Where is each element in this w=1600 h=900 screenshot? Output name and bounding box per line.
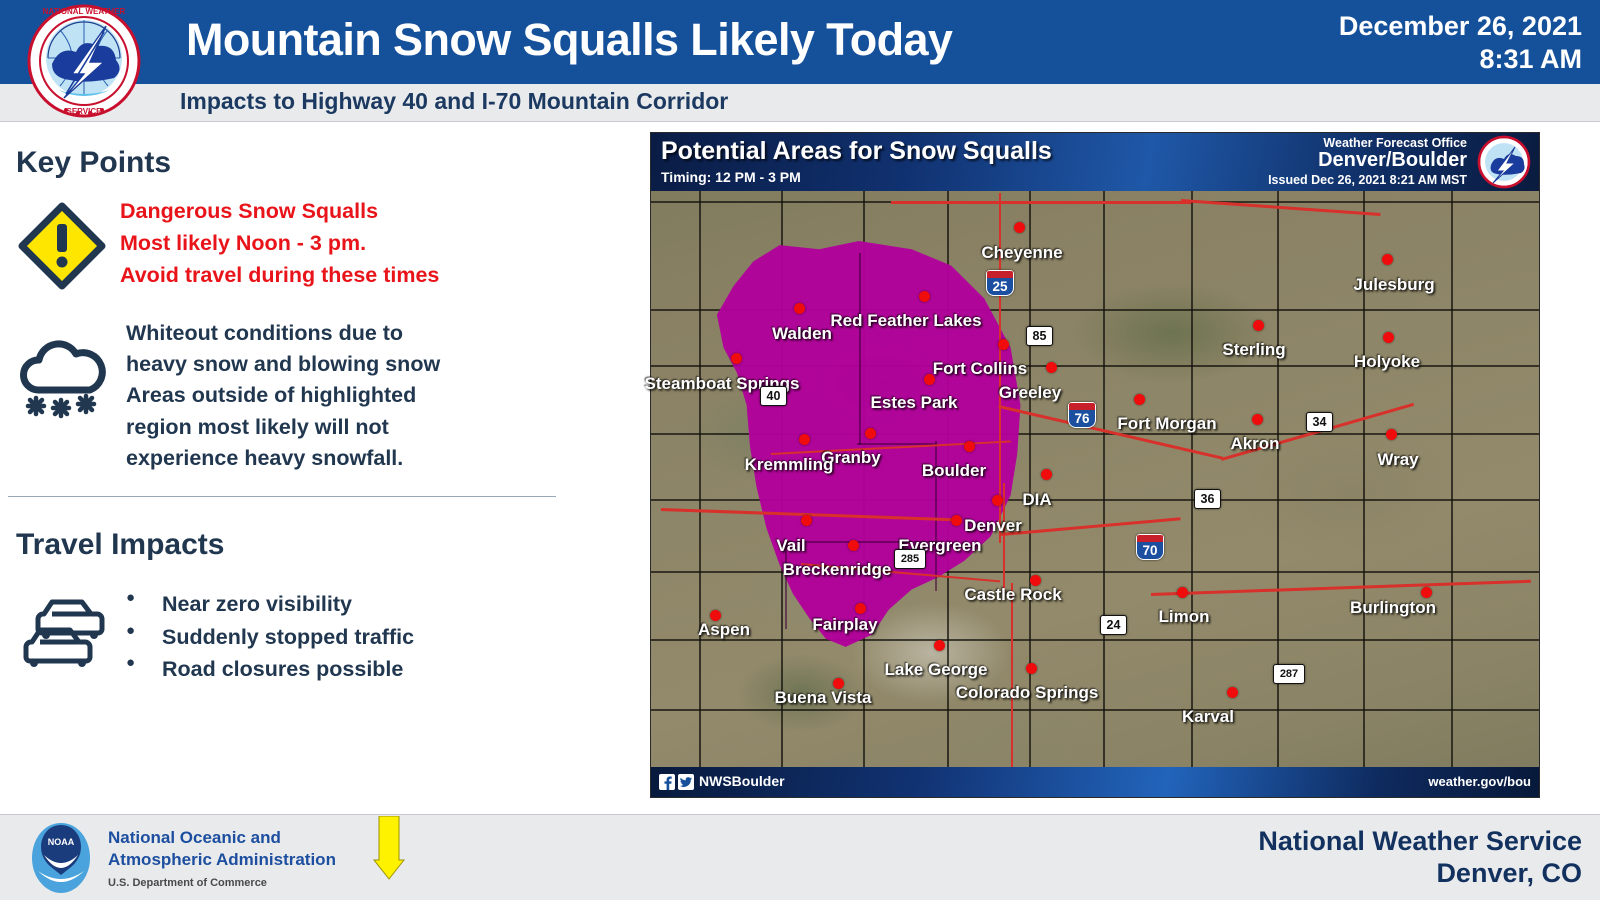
city-marker-dot [964,441,975,452]
page-subtitle: Impacts to Highway 40 and I-70 Mountain … [180,88,728,115]
city-marker-dot [848,540,859,551]
city-label: Limon [1159,607,1210,627]
list-item: Near zero visibility [122,588,414,621]
city-label: Boulder [922,461,986,481]
county-boundary [1103,133,1105,797]
city-marker-dot [1227,687,1238,698]
city-label: Fort Morgan [1117,414,1216,434]
city-marker-dot [731,353,742,364]
facebook-icon[interactable] [659,774,675,790]
city-marker-dot [919,291,930,302]
city-label: Julesburg [1353,275,1434,295]
city-marker-dot [1421,587,1432,598]
wfo-office-name: Denver/Boulder [1318,150,1467,171]
map-header-bar: Potential Areas for Snow Squalls Timing:… [651,133,1539,191]
city-label: Akron [1230,434,1279,454]
whiteout-message: Whiteout conditions due to heavy snow an… [126,318,440,474]
city-marker-dot [951,515,962,526]
county-boundary [1277,133,1279,797]
city-label: Red Feather Lakes [830,311,981,331]
city-marker-dot [1177,587,1188,598]
alert-message: Dangerous Snow Squalls Most likely Noon … [120,196,439,291]
city-marker-dot [799,434,810,445]
map-issued-timestamp: Issued Dec 26, 2021 8:21 AM MST [1268,173,1467,187]
city-marker-dot [1386,429,1397,440]
twitter-icon[interactable] [678,774,694,790]
noaa-name: National Oceanic and Atmospheric Adminis… [108,827,336,871]
highway-us-north [891,201,1191,204]
weather-url[interactable]: weather.gov/bou [1428,774,1531,789]
city-label: Cheyenne [981,243,1062,263]
city-marker-dot [998,339,1009,350]
city-marker-dot [1046,362,1057,373]
weather-forecast-office: Weather Forecast Office Denver/Boulder [1318,136,1467,171]
traffic-cars-icon [18,592,110,675]
city-label: Breckenridge [783,560,892,580]
warning-exclamation-icon [18,202,106,295]
county-boundary [1191,133,1193,797]
map-timing-label: Timing: 12 PM - 3 PM [661,169,801,185]
city-marker-dot [1383,332,1394,343]
whiteout-line-3: Areas outside of highlighted [126,380,440,411]
travel-impacts-heading: Travel Impacts [16,528,224,562]
city-marker-dot [992,495,1003,506]
city-label: Kremmling [745,455,834,475]
svg-text:SERVICE: SERVICE [67,107,103,116]
route-shield-70: 70 [1136,534,1164,560]
city-marker-dot [1134,394,1145,405]
highway-i25-south [1003,483,1005,593]
city-label: Denver [964,516,1022,536]
city-marker-dot [1252,414,1263,425]
route-shield-76: 76 [1068,402,1096,428]
city-label: Estes Park [871,393,958,413]
county-boundary [651,709,1539,711]
header-timestamp: December 26, 2021 8:31 AM [1339,10,1582,76]
whiteout-line-5: experience heavy snowfall. [126,443,440,474]
city-label: Sterling [1222,340,1285,360]
city-label: Lake George [885,660,988,680]
route-shield-287: 287 [1273,664,1305,684]
city-label: Fort Collins [933,359,1027,379]
route-shield-24: 24 [1100,615,1127,635]
city-marker-dot [801,515,812,526]
city-label: Vail [776,536,805,556]
noaa-line-2: Atmospheric Administration [108,849,336,871]
nws-seal-icon [1475,135,1533,189]
map-footer-bar: NWSBoulder weather.gov/bou [651,767,1539,797]
city-label: Walden [772,324,832,344]
city-label: Buena Vista [774,688,871,708]
city-label: Fairplay [812,615,877,635]
header-time: 8:31 AM [1339,43,1582,76]
city-marker-dot [1253,320,1264,331]
national-weather-service-seal-icon: NATIONAL WEATHER SERVICE [8,2,160,120]
noaa-department: U.S. Department of Commerce [108,877,267,889]
footer-band: NOAA National Oceanic and Atmospheric Ad… [0,814,1600,900]
city-marker-dot [1014,222,1025,233]
header-date: December 26, 2021 [1339,10,1582,43]
city-label: Greeley [999,383,1061,403]
nws-footer-line-1: National Weather Service [1258,825,1582,857]
whiteout-line-4: region most likely will not [126,412,440,443]
snow-cloud-icon [14,334,110,427]
alert-line-3: Avoid travel during these times [120,260,439,292]
city-marker-dot [1026,663,1037,674]
county-boundary [1451,133,1453,797]
whiteout-line-1: Whiteout conditions due to [126,318,440,349]
route-shield-25: 25 [986,270,1014,296]
route-shield-34: 34 [1306,412,1333,432]
svg-text:NATIONAL WEATHER: NATIONAL WEATHER [43,7,126,16]
list-item: Road closures possible [122,653,414,686]
noaa-logo-icon: NOAA [24,821,98,895]
route-shield-285: 285 [894,549,926,569]
svg-text:NOAA: NOAA [48,837,75,847]
city-label: Burlington [1350,598,1436,618]
city-marker-dot [855,603,866,614]
left-panel: Key Points Dangerous Snow Squalls Most l… [0,124,640,814]
city-marker-dot [794,303,805,314]
list-item: Suddenly stopped traffic [122,621,414,654]
alert-line-1: Dangerous Snow Squalls [120,196,439,228]
city-marker-dot [1041,469,1052,480]
route-shield-40: 40 [760,386,787,406]
city-label: Holyoke [1354,352,1420,372]
city-marker-dot [865,428,876,439]
city-label: DIA [1022,490,1051,510]
route-shield-36: 36 [1194,489,1221,509]
route-shield-85: 85 [1026,326,1053,346]
city-label: Aspen [698,620,750,640]
severity-marker-arrow-icon [373,816,405,880]
city-label: Colorado Springs [956,683,1099,703]
city-label: Castle Rock [964,585,1061,605]
city-label: Karval [1182,707,1234,727]
county-boundary [699,133,701,797]
alert-line-2: Most likely Noon - 3 pm. [120,228,439,260]
noaa-line-1: National Oceanic and [108,827,336,849]
whiteout-line-2: heavy snow and blowing snow [126,349,440,380]
map-title: Potential Areas for Snow Squalls [661,137,1052,166]
page-title: Mountain Snow Squalls Likely Today [186,14,952,66]
wfo-label: Weather Forecast Office [1318,136,1467,150]
social-handle[interactable]: NWSBoulder [699,773,785,789]
weather-graphic-page: NATIONAL WEATHER SERVICE Mountain Snow S… [0,0,1600,900]
county-boundary [1363,133,1365,797]
nws-footer-line-2: Denver, CO [1258,857,1582,889]
city-marker-dot [1382,254,1393,265]
nws-footer-name: National Weather Service Denver, CO [1258,825,1582,890]
section-divider [8,496,556,497]
city-label: Wray [1377,450,1418,470]
travel-impacts-list: Near zero visibility Suddenly stopped tr… [122,588,414,686]
city-marker-dot [934,640,945,651]
key-points-heading: Key Points [16,146,171,180]
